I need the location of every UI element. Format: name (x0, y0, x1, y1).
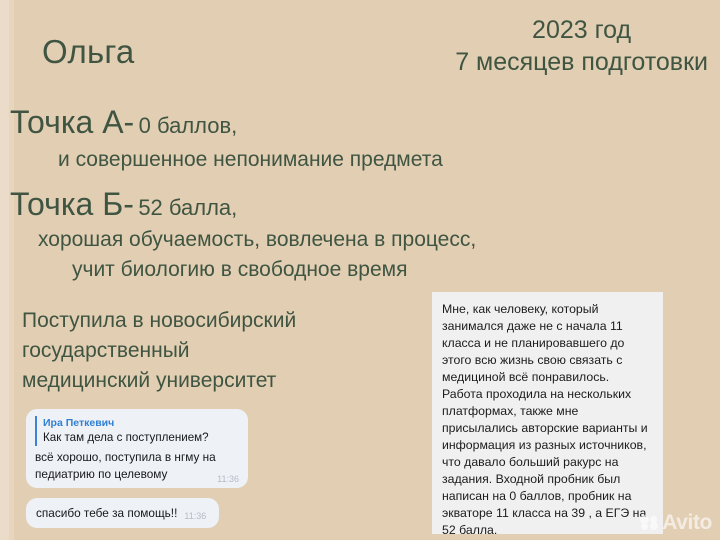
admission-line-1: Поступила в новосибирский (22, 306, 296, 336)
left-edge-strip (0, 0, 9, 540)
point-a-label: Точка А (10, 104, 124, 140)
admission-line-3: медицинский университет (22, 366, 296, 396)
point-b-row: Точка Б- 52 балла, (10, 186, 237, 223)
student-review-card: Мне, как человеку, который занимался даж… (432, 292, 663, 534)
point-a-detail: и совершенное непонимание предмета (58, 148, 443, 172)
chat-message-2-body: спасибо тебе за помощь!! (36, 504, 177, 522)
year-label: 2023 год (455, 14, 708, 46)
chat-message-body: всё хорошо, поступила в нгму на педиатри… (35, 448, 239, 483)
admission-line-2: государственный (22, 336, 296, 366)
chat-message-2-timestamp: 11:36 (184, 511, 206, 522)
avito-watermark-label: Avito (662, 512, 712, 533)
student-name: Ольга (42, 33, 134, 71)
duration-label: 7 месяцев подготовки (455, 46, 708, 78)
chat-message-incoming: Ира Петкевич Как там дела с поступлением… (26, 409, 248, 488)
point-b-label: Точка Б (10, 186, 123, 222)
chat-message-thanks: спасибо тебе за помощь!! 11:36 (26, 498, 219, 528)
quote-author: Ира Петкевич (43, 416, 239, 430)
chat-message-timestamp: 11:36 (217, 474, 239, 484)
quoted-message: Ира Петкевич Как там дела с поступлением… (35, 416, 239, 446)
year-duration-block: 2023 год 7 месяцев подготовки (455, 14, 708, 78)
point-b-detail-1: хорошая обучаемость, вовлечена в процесс… (38, 228, 476, 252)
point-a-dash: - (124, 104, 135, 140)
slide-canvas: Ольга 2023 год 7 месяцев подготовки Точк… (0, 0, 720, 540)
point-b-value: 52 балла, (138, 195, 237, 220)
quote-text: Как там дела с поступлением? (43, 430, 239, 446)
left-edge-strip-secondary (9, 0, 14, 540)
point-a-value: 0 баллов, (139, 113, 238, 138)
point-b-dash: - (123, 186, 134, 222)
point-b-detail-2: учит биологию в свободное время (72, 258, 407, 282)
point-a-row: Точка А- 0 баллов, (10, 104, 237, 141)
admission-block: Поступила в новосибирский государственны… (22, 306, 296, 396)
